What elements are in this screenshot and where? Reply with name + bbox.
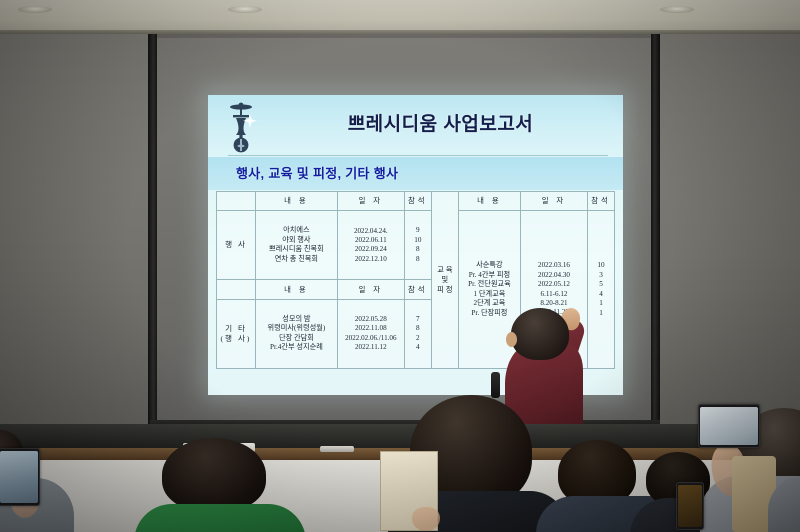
presenter-ear [506,332,517,347]
wall-left-panel [0,34,155,434]
other-header-date: 일 자 [337,280,404,299]
slide-subtitle: 행사, 교육 및 피정, 기타 행사 [236,163,398,182]
other-section-label-cell [217,280,256,299]
ceiling-downlight [660,6,694,13]
phone-screen [678,485,702,527]
legion-of-mary-emblem [219,100,263,154]
table-row: 행 사 아치에스 야외 행사 쁘레시디움 친목회 연차 총 친목회 2022.0… [217,211,615,280]
right-section-label: 교 육 및 피 정 [431,192,458,369]
left-section-label-cell [217,192,256,211]
ceiling-downlight [228,6,262,13]
phone-screen [0,451,38,503]
ceiling-edge [0,30,800,34]
head [162,438,266,512]
events-dates: 2022.04.24. 2022.06.11 2022.09.24 2022.1… [337,211,404,280]
ceiling [0,0,800,32]
screen-rail-right [651,34,660,432]
phone-screen [700,407,758,445]
other-header-attendance: 참석 [404,280,431,299]
smartphone-raised[interactable] [698,404,760,448]
right-header-content: 내 용 [458,192,520,211]
events-attendance: 9 10 8 8 [404,211,431,280]
other-attendance: 7 8 2 4 [404,299,431,368]
table-header-row: 내 용 일 자 참석 교 육 및 피 정 내 용 일 자 참석 [217,192,615,211]
other-items: 성모의 밤 위령미사(위령성월) 단장 간담회 Pr.4간부 성지순례 [256,299,338,368]
audience-member-phone-left [0,430,112,532]
other-header-content: 내 용 [256,280,338,299]
left-header-content: 내 용 [256,192,338,211]
events-items: 아치에스 야외 행사 쁘레시디움 친목회 연차 총 친목회 [256,211,338,280]
left-header-attendance: 참석 [404,192,431,211]
slide-title: 쁘레시디움 사업보고서 [268,109,613,136]
ceiling-downlight [18,6,52,13]
hand [412,507,440,531]
second-phone[interactable] [676,482,704,530]
slide-header-rule [228,155,608,156]
lecture-room-scene: 쁘레시디움 사업보고서 행사, 교육 및 피정, 기타 행사 내 용 일 자 참… [0,0,800,532]
wall-right-panel [652,34,800,434]
audience-member-right-edge [762,470,800,532]
screen-rail-left [148,34,157,432]
torso [134,504,306,532]
row-label-events: 행 사 [217,211,256,280]
right-header-date: 일 자 [521,192,588,211]
right-header-attendance: 참석 [588,192,615,211]
row-label-other: 기 타 (행 사) [217,299,256,368]
audience-member-green-top [140,438,290,532]
other-dates: 2022.05.28 2022.11.08 2022.02.06./11.06 … [337,299,404,368]
presenter-head [511,308,569,360]
smartphone[interactable] [0,448,40,506]
chalk-piece [320,446,354,452]
left-header-date: 일 자 [337,192,404,211]
